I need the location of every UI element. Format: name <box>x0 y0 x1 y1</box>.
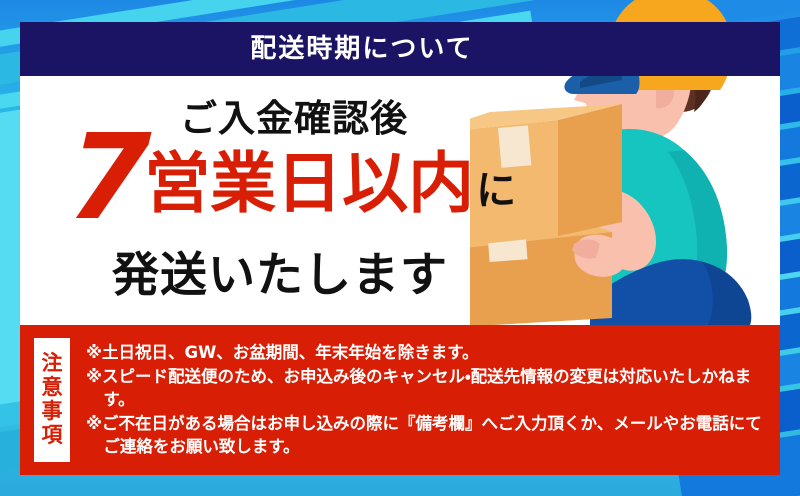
notice-label-char: 意 <box>42 376 63 400</box>
notice-item: ※ご不在日がある場合はお申し込みの際に『備考欄』へご入力頂くか、メールやお電話に… <box>86 412 770 459</box>
page-title: 配送時期について <box>250 36 473 62</box>
business-days-text: 営業日以内 <box>144 152 474 215</box>
notice-label-char: 事 <box>42 400 63 424</box>
notice-label-char: 項 <box>42 424 63 448</box>
delivery-notice-banner: 配送時期について ご入金確認後 7 営業日以内 に 発送いたします 注 意 事 … <box>0 0 800 496</box>
notice-label-vertical: 注 意 事 項 <box>34 338 70 462</box>
notice-item: ※スピード配送便のため、お申込み後のキャンセル・配送先情報の変更は対応いたしかね… <box>86 365 770 412</box>
message-line-2: 7 営業日以内 に <box>68 122 516 221</box>
notice-list: ※土日祝日、GW、お盆期間、年末年始を除きます。 ※スピード配送便のため、お申込… <box>70 338 770 462</box>
business-days-number: 7 <box>66 128 146 227</box>
notice-label-char: 注 <box>42 352 63 376</box>
notice-box: 注 意 事 項 ※土日祝日、GW、お盆期間、年末年始を除きます。 ※スピード配送… <box>20 325 780 475</box>
main-message: ご入金確認後 7 営業日以内 に 発送いたします <box>20 76 540 325</box>
notice-item: ※土日祝日、GW、お盆期間、年末年始を除きます。 <box>86 341 770 364</box>
message-particle: に <box>476 171 516 211</box>
message-line-3: 発送いたします <box>112 236 448 305</box>
header-bar: 配送時期について <box>20 22 780 76</box>
